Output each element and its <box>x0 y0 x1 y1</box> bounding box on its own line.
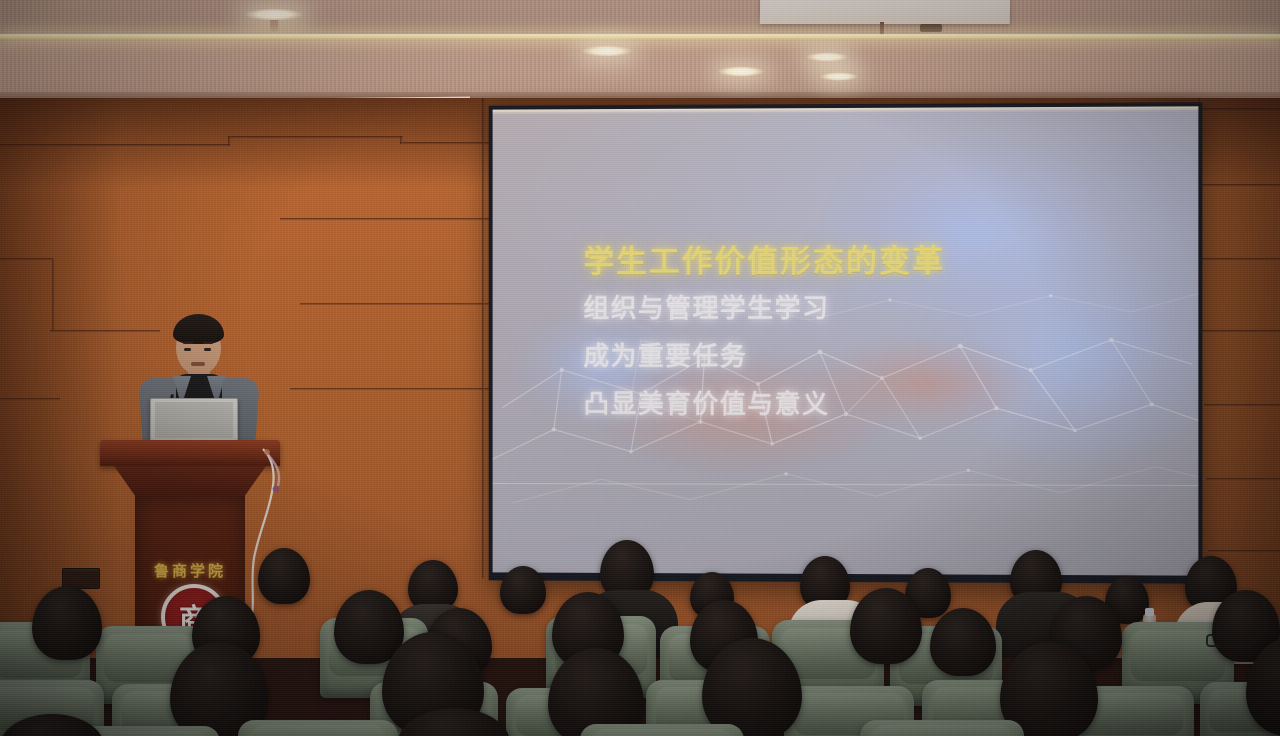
audience-head <box>930 608 996 676</box>
soffit-spotlight-icon <box>718 66 764 77</box>
audience-head <box>500 566 546 614</box>
wall-seam <box>290 388 490 391</box>
slide-bullet-1: 组织与管理学生学习 <box>583 288 1184 325</box>
podium-bevel <box>114 466 266 496</box>
podium-top <box>100 440 280 466</box>
speaker-eyebrow-left <box>183 342 193 344</box>
water-bottle-cap <box>1145 608 1154 616</box>
slide-bullet-3: 凸显美育价值与意义 <box>583 384 1184 422</box>
audience <box>0 530 1280 736</box>
speaker-eye-right <box>204 348 211 351</box>
speaker-eye-left <box>184 348 191 351</box>
wall-seam <box>300 303 490 306</box>
soffit-spotlight-icon <box>806 52 848 62</box>
led-cove-light <box>0 34 1280 39</box>
ceiling-access-panel <box>760 0 1011 24</box>
laptop <box>150 398 238 442</box>
slide-bullet-2: 成为重要任务 <box>583 336 1184 373</box>
auditorium-seat <box>238 720 398 736</box>
audience-head <box>32 586 102 660</box>
ceiling-texture <box>0 0 1280 36</box>
soffit-texture <box>0 36 1280 98</box>
downlight-stem <box>270 20 278 32</box>
ceiling-projector-icon <box>920 24 942 32</box>
lecture-hall-photo: 学生工作价值形态的变革 组织与管理学生学习 成为重要任务 凸显美育价值与意义 <box>0 0 1280 736</box>
eyeglasses-icon <box>1206 634 1256 647</box>
speaker-hair <box>173 314 224 344</box>
ceiling-soffit <box>0 36 1280 98</box>
soffit-spotlight-icon <box>582 45 632 57</box>
projection-screen-frame: 学生工作价值形态的变革 组织与管理学生学习 成为重要任务 凸显美育价值与意义 <box>489 102 1203 583</box>
speaker-mouth <box>191 362 205 366</box>
audience-head <box>258 548 310 604</box>
speaker-eyebrow-right <box>203 342 213 344</box>
ceiling <box>0 0 1280 36</box>
slide-text-block: 学生工作价值形态的变革 组织与管理学生学习 成为重要任务 凸显美育价值与意义 <box>583 235 1184 432</box>
projection-screen: 学生工作价值形态的变革 组织与管理学生学习 成为重要任务 凸显美育价值与意义 <box>493 106 1199 575</box>
auditorium-seat <box>580 724 744 736</box>
laptop-screen <box>155 402 233 438</box>
wall-seam <box>280 218 490 221</box>
auditorium-seat <box>860 720 1024 736</box>
slide-title: 学生工作价值形态的变革 <box>583 235 1184 281</box>
soffit-spotlight-icon <box>820 72 858 81</box>
